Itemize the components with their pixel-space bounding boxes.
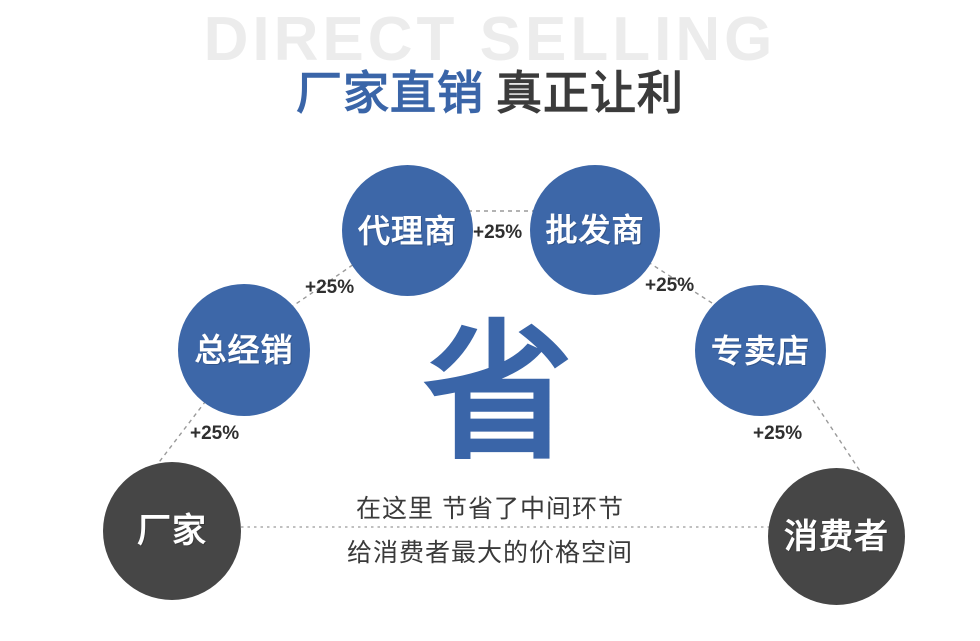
node-specialty-store[interactable]: 专卖店 bbox=[695, 285, 826, 416]
node-agent[interactable]: 代理商 bbox=[342, 165, 473, 296]
slogan-line-1: 在这里 节省了中间环节 bbox=[0, 489, 980, 525]
direct-selling-infographic: DIRECT SELLING 厂家直销真正让利 厂家 总经销 bbox=[0, 0, 980, 641]
node-wholesaler[interactable]: 批发商 bbox=[530, 165, 660, 295]
node-agent-label: 代理商 bbox=[358, 215, 457, 247]
node-wholesaler-label: 批发商 bbox=[545, 214, 644, 246]
link-store-consumer bbox=[813, 400, 862, 474]
markup-wholesaler-to-store: +25% bbox=[645, 275, 694, 297]
node-general-distributor[interactable]: 总经销 bbox=[178, 284, 310, 416]
markup-factory-to-distributor: +25% bbox=[190, 423, 239, 445]
node-general-distributor-label: 总经销 bbox=[194, 334, 293, 366]
markup-distributor-to-agent: +25% bbox=[305, 277, 354, 299]
slogan-line-2: 给消费者最大的价格空间 bbox=[0, 533, 980, 569]
node-factory[interactable]: 厂家 bbox=[103, 462, 241, 600]
markup-store-to-consumer: +25% bbox=[753, 423, 802, 445]
center-save-character: 省 bbox=[398, 318, 598, 468]
node-specialty-store-label: 专卖店 bbox=[711, 335, 810, 367]
distribution-chain-diagram: 厂家 总经销 代理商 批发商 专卖店 消费者 +25% +25% +25% +2… bbox=[0, 0, 980, 641]
markup-agent-to-wholesaler: +25% bbox=[473, 222, 522, 244]
